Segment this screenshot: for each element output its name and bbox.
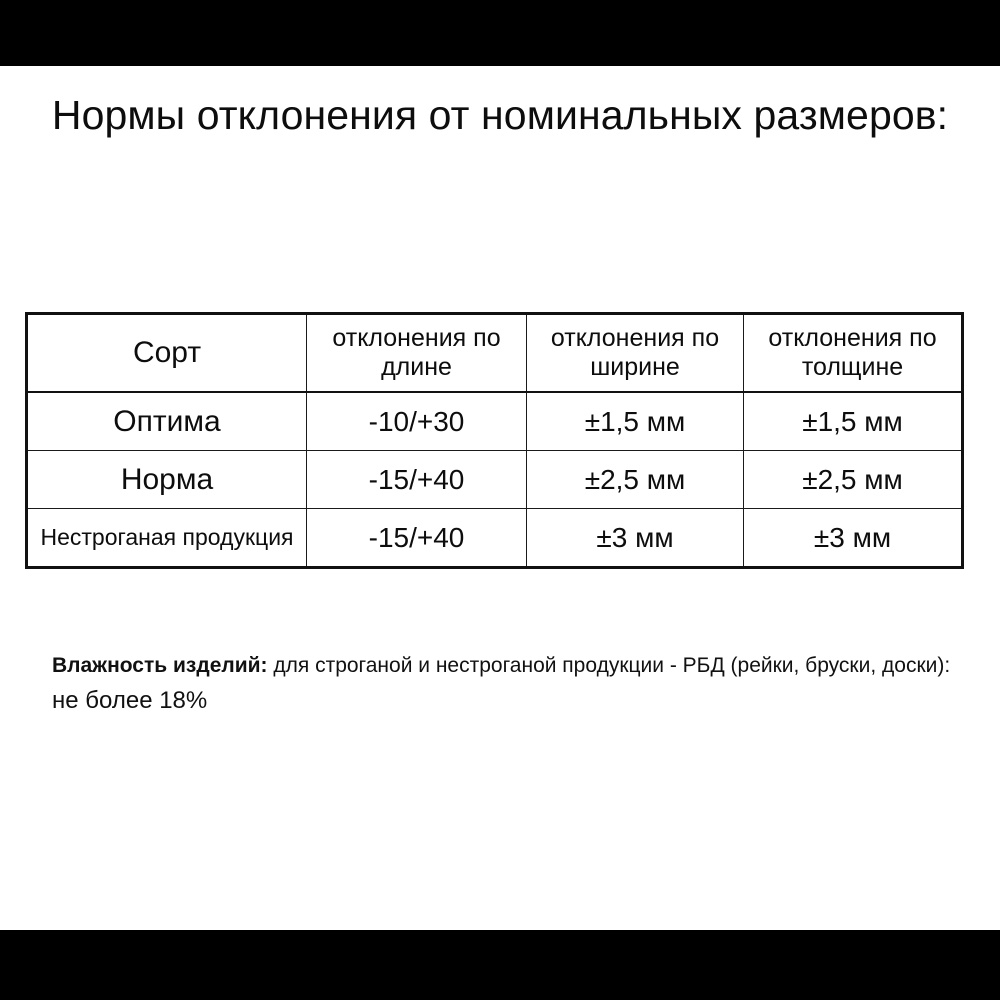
cell-length-norma: -15/+40: [307, 451, 527, 509]
norms-table-container: Сорт отклонения по длине отклонения по ш…: [25, 312, 961, 569]
cell-width-norma: ±2,5 мм: [527, 451, 744, 509]
deviation-norms-table: Сорт отклонения по длине отклонения по ш…: [25, 312, 964, 569]
footnote-line-1: Влажность изделий: для строганой и нестр…: [52, 650, 932, 682]
slide-page: Нормы отклонения от номинальных размеров…: [0, 0, 1000, 1000]
table-header: Сорт отклонения по длине отклонения по ш…: [27, 314, 963, 393]
cell-thickness-optima: ±1,5 мм: [744, 392, 963, 451]
cell-sort-unplaned: Нестроганая продукция: [27, 509, 307, 568]
table-header-row: Сорт отклонения по длине отклонения по ш…: [27, 314, 963, 393]
column-header-sort: Сорт: [27, 314, 307, 393]
column-header-width: отклонения по ширине: [527, 314, 744, 393]
table-row: Оптима -10/+30 ±1,5 мм ±1,5 мм: [27, 392, 963, 451]
cell-length-optima: -10/+30: [307, 392, 527, 451]
cell-width-optima: ±1,5 мм: [527, 392, 744, 451]
table-row: Норма -15/+40 ±2,5 мм ±2,5 мм: [27, 451, 963, 509]
column-header-length: отклонения по длине: [307, 314, 527, 393]
table-row: Нестроганая продукция -15/+40 ±3 мм ±3 м…: [27, 509, 963, 568]
cell-sort-optima: Оптима: [27, 392, 307, 451]
page-title: Нормы отклонения от номинальных размеров…: [50, 88, 950, 143]
cell-thickness-norma: ±2,5 мм: [744, 451, 963, 509]
footnote-line-2: не более 18%: [52, 684, 932, 719]
cell-sort-norma: Норма: [27, 451, 307, 509]
table-body: Оптима -10/+30 ±1,5 мм ±1,5 мм Норма -15…: [27, 392, 963, 568]
footnote-lead-label: Влажность изделий:: [52, 654, 268, 677]
moisture-footnote: Влажность изделий: для строганой и нестр…: [52, 650, 932, 718]
letterbox-bar-top: [0, 0, 1000, 66]
column-header-thickness: отклонения по толщине: [744, 314, 963, 393]
letterbox-bar-bottom: [0, 930, 1000, 1000]
cell-thickness-unplaned: ±3 мм: [744, 509, 963, 568]
cell-length-unplaned: -15/+40: [307, 509, 527, 568]
cell-width-unplaned: ±3 мм: [527, 509, 744, 568]
footnote-rest-text: для строганой и нестроганой продукции - …: [268, 654, 951, 677]
